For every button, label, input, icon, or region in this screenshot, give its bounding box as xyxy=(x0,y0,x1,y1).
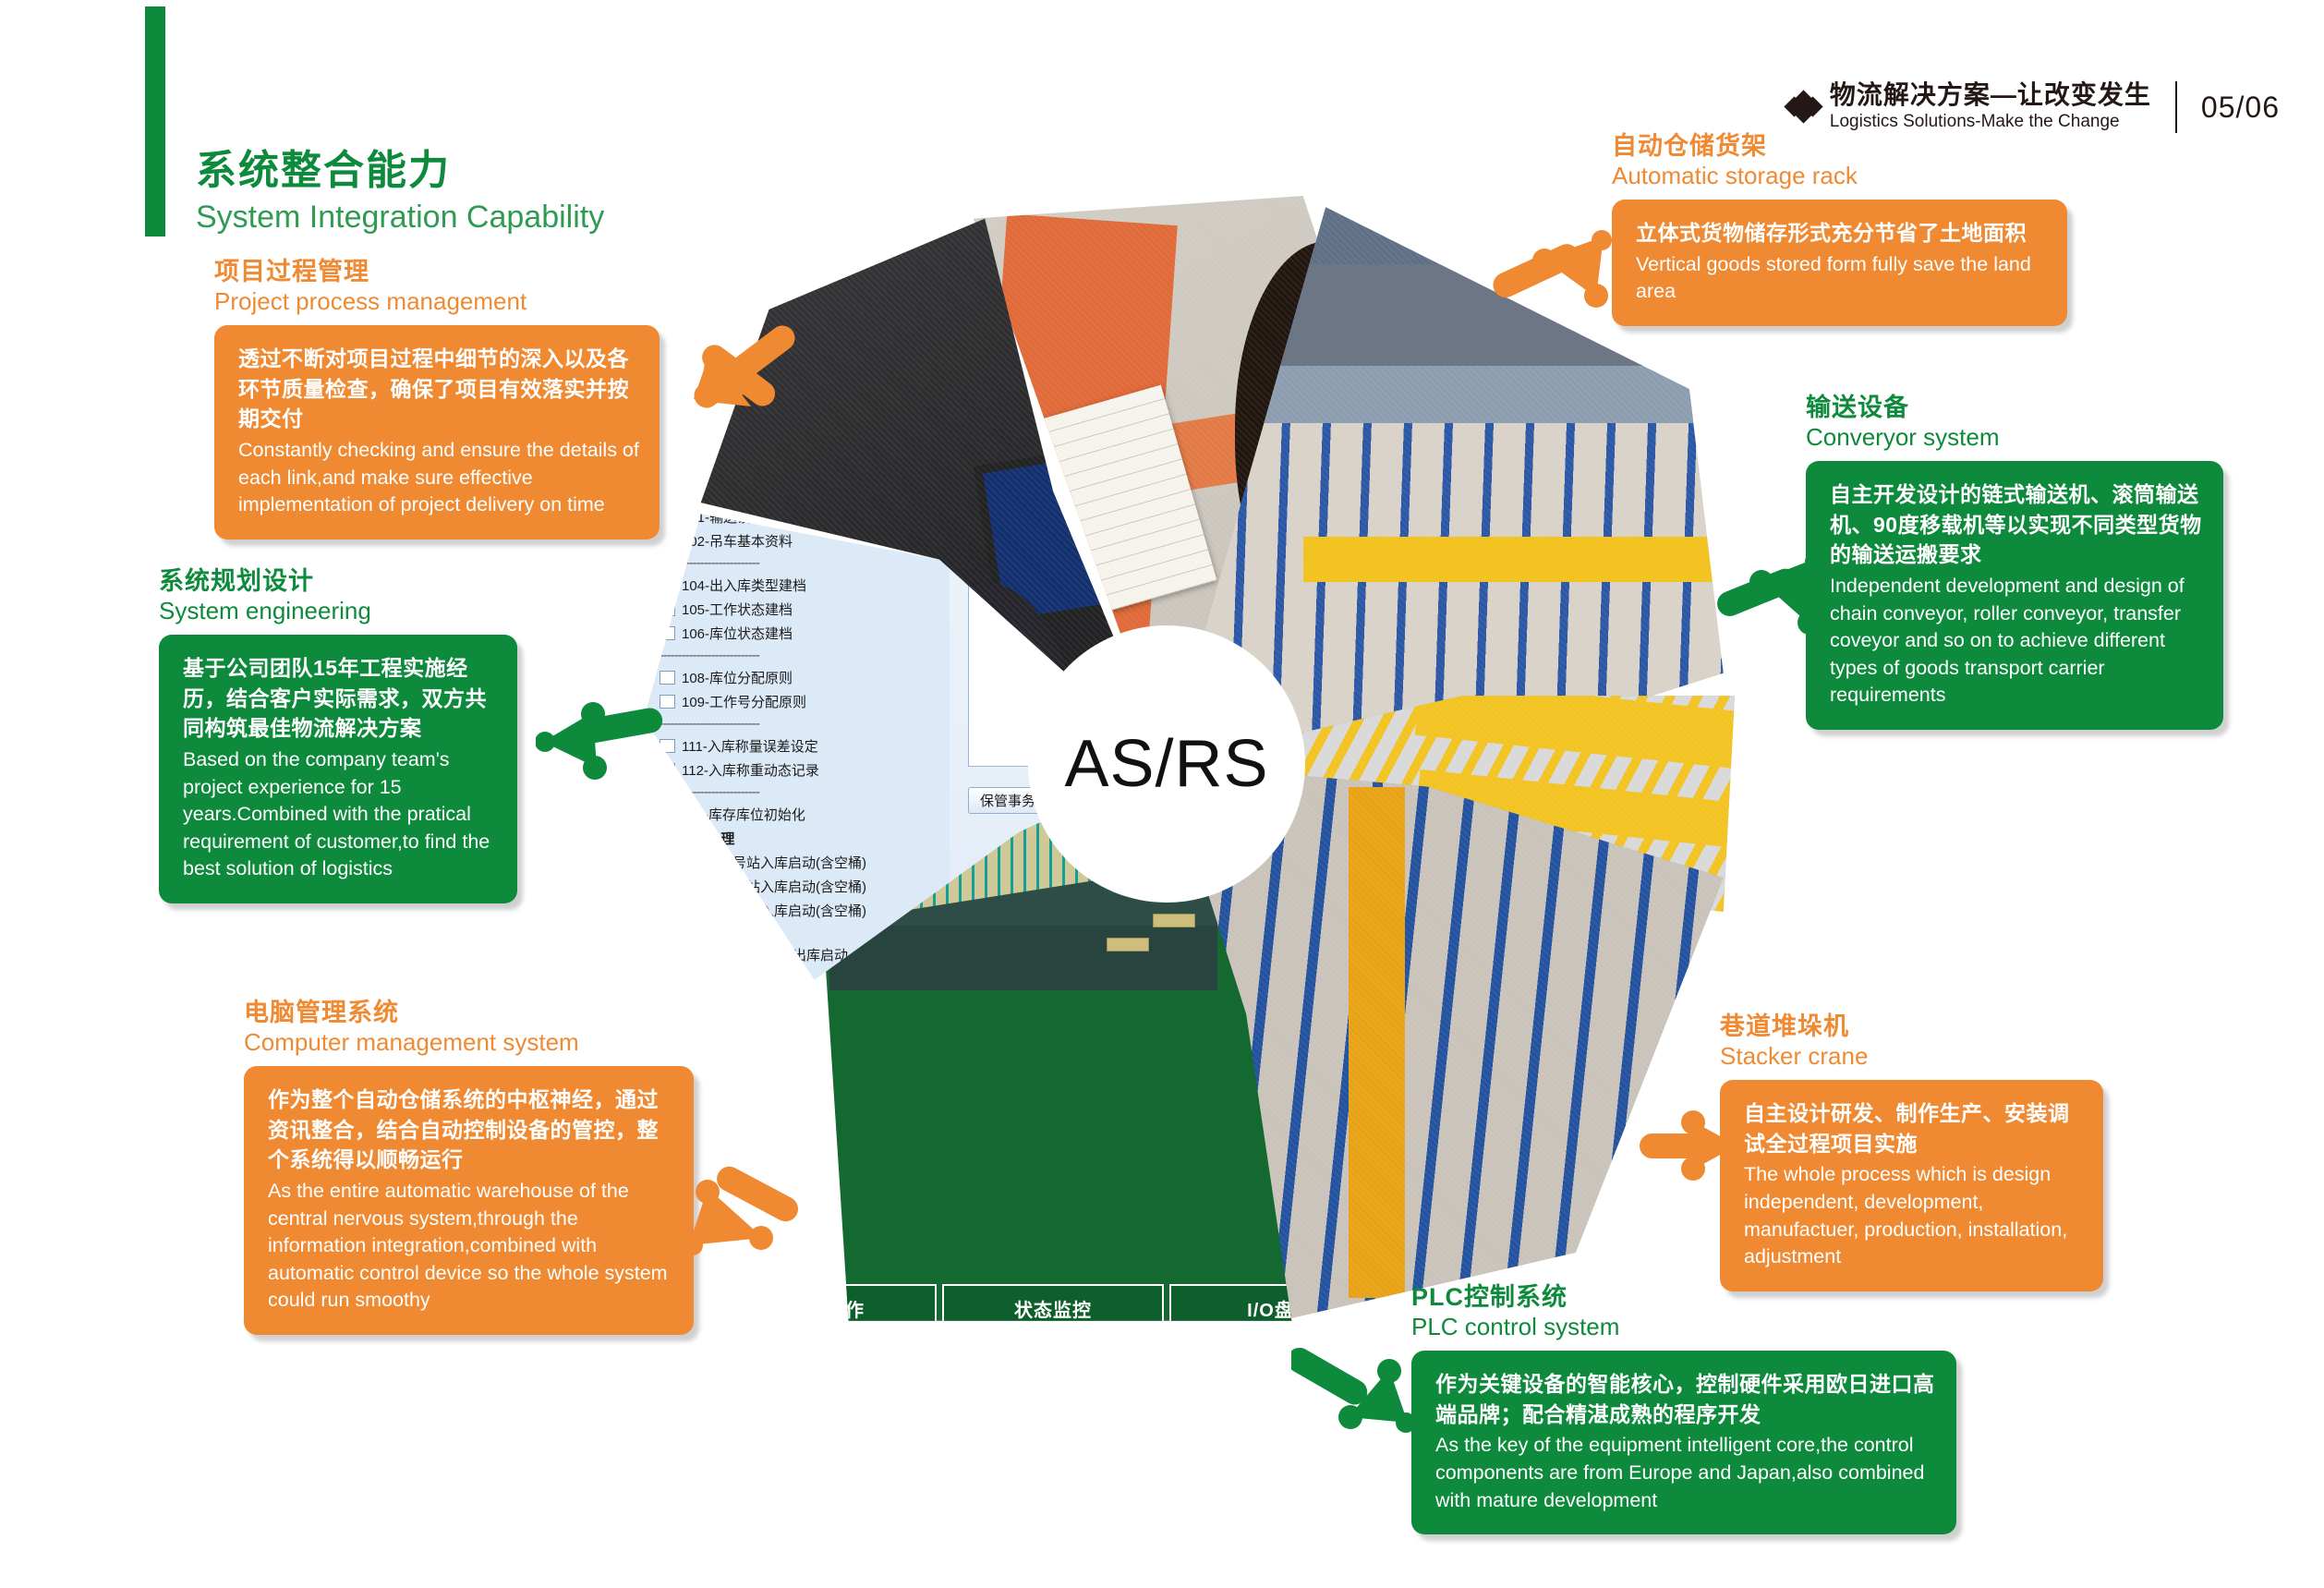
callout-label-cn-5: 巷道堆垛机 xyxy=(1720,1012,2117,1041)
hmi-button-0[interactable]: 设备操作 xyxy=(715,1284,937,1332)
callout-box-1: 基于公司团队15年工程实施经历，结合客户实际需求，双方共同构筑最佳物流解决方案 … xyxy=(159,635,517,903)
software-tree-label: 108-库位分配原则 xyxy=(682,668,793,687)
software-tree-label: 114-库存库位初始化 xyxy=(682,805,805,824)
software-tree-node-15[interactable]: 2-日常处理 xyxy=(641,826,944,850)
folder-icon xyxy=(643,830,660,845)
callout-computer-management-system: 电脑管理系统 Computer management system 作为整个自动… xyxy=(244,998,706,1335)
software-tree-label: 106-库位状态建档 xyxy=(682,624,793,643)
callout-body-cn-0: 透过不断对项目过程中细节的深入以及各环节质量检查，确保了项目有效落实并按期交付 xyxy=(238,344,639,434)
slide-header: 物流解决方案—让改变发生 Logistics Solutions-Make th… xyxy=(1787,81,2280,133)
arrow-up-left-icon xyxy=(679,321,799,428)
software-tree-label: 105-工作状态建档 xyxy=(682,600,793,619)
header-title-cn: 物流解决方案—让改变发生 xyxy=(1830,81,2151,110)
software-tree-node-11[interactable]: 111-入库称量误差设定 xyxy=(641,733,944,758)
software-tree-label: 201-105号站入库启动(含空桶) xyxy=(682,853,866,872)
software-tree-node-6[interactable]: 106-库位状态建档 xyxy=(641,621,944,645)
callout-body-cn-3: 立体式货物储存形式充分节省了土地面积 xyxy=(1636,218,2047,249)
software-tree-label: 2-日常处理 xyxy=(667,829,734,848)
diamond-icon xyxy=(1787,93,1815,121)
document-icon xyxy=(660,578,675,592)
software-tree-label: --------------------------- xyxy=(660,555,759,571)
software-tree-node-9[interactable]: 109-工作号分配原则 xyxy=(641,689,944,713)
software-tree-node-3[interactable]: --------------------------- xyxy=(641,552,944,573)
callout-label-en-3: Automatic storage rack xyxy=(1612,161,2083,191)
header-text-group: 物流解决方案—让改变发生 Logistics Solutions-Make th… xyxy=(1830,81,2151,133)
callout-label-en-1: System engineering xyxy=(159,596,530,626)
callout-label-cn-3: 自动仓储货架 xyxy=(1612,131,2083,161)
software-tree-node-16[interactable]: 201-105号站入库启动(含空桶) xyxy=(641,850,944,874)
software-tree-node-10[interactable]: --------------------------- xyxy=(641,713,944,733)
callout-box-6: 作为关键设备的智能核心，控制硬件采用欧日进口高端品牌；配合精湛成熟的程序开发 A… xyxy=(1411,1351,1956,1534)
software-tree-label: --------------------------- xyxy=(660,784,759,800)
arrow-down-right-icon xyxy=(1291,1330,1421,1441)
header-divider xyxy=(2175,81,2177,133)
callout-label-cn-6: PLC控制系统 xyxy=(1411,1282,1966,1312)
callout-plc-control-system: PLC控制系统 PLC control system 作为关键设备的智能核心，控… xyxy=(1411,1282,1966,1534)
software-tree-node-17[interactable]: 202-103号站入库启动(含空桶) xyxy=(641,874,944,898)
callout-label-cn-0: 项目过程管理 xyxy=(214,257,676,286)
callout-body-cn-2: 作为整个自动仓储系统的中枢神经，通过资讯整合，结合自动控制设备的管控，整个系统得… xyxy=(268,1085,673,1175)
document-icon xyxy=(660,626,675,640)
callout-label-cn-1: 系统规划设计 xyxy=(159,566,530,596)
callout-body-cn-5: 自主设计研发、制作生产、安装调试全过程项目实施 xyxy=(1744,1098,2083,1158)
callout-conveyor-system: 输送设备 Converyor system 自主开发设计的链式输送机、滚筒输送机… xyxy=(1806,393,2235,730)
callout-automatic-storage-rack: 自动仓储货架 Automatic storage rack 立体式货物储存形式充… xyxy=(1612,131,2083,326)
software-tree-label: --------------------------- xyxy=(660,925,759,940)
software-tree-label: 111-入库称量误差设定 xyxy=(682,736,818,756)
callout-body-en-0: Constantly checking and ensure the detai… xyxy=(238,437,639,519)
software-tree-node-5[interactable]: 105-工作状态建档 xyxy=(641,597,944,621)
callout-body-cn-1: 基于公司团队15年工程实施经历，结合客户实际需求，双方共同构筑最佳物流解决方案 xyxy=(183,653,497,744)
callout-box-5: 自主设计研发、制作生产、安装调试全过程项目实施 The whole proces… xyxy=(1720,1080,2103,1291)
arrow-down-left-icon xyxy=(684,1153,813,1264)
callout-body-en-5: The whole process which is design indepe… xyxy=(1744,1161,2083,1271)
callout-label-en-4: Converyor system xyxy=(1806,422,2235,453)
document-icon xyxy=(660,948,675,962)
callout-box-2: 作为整个自动仓储系统的中枢神经，通过资讯整合，结合自动控制设备的管控，整个系统得… xyxy=(244,1066,694,1335)
software-tree-node-4[interactable]: 104-出入库类型建档 xyxy=(641,573,944,597)
document-icon xyxy=(660,807,675,821)
callout-project-process-management: 项目过程管理 Project process management 透过不断对项… xyxy=(214,257,676,539)
slide-canvas: 系统整合能力 System Integration Capability 物流解… xyxy=(0,0,2324,1588)
page-number: 05/06 xyxy=(2201,91,2280,125)
hub-label: AS/RS xyxy=(1064,726,1268,802)
arrow-left-icon xyxy=(536,688,665,781)
callout-body-en-6: As the key of the equipment intelligent … xyxy=(1435,1432,1936,1514)
arrow-right-icon xyxy=(1640,1104,1750,1187)
software-tree-label: --------------------------- xyxy=(660,969,759,985)
software-tree-label: --------------------------- xyxy=(660,716,759,732)
callout-system-engineering: 系统规划设计 System engineering 基于公司团队15年工程实施经… xyxy=(159,566,530,903)
document-icon xyxy=(660,671,675,685)
hmi-button-1[interactable]: 状态监控 xyxy=(942,1284,1164,1332)
callout-label-en-2: Computer management system xyxy=(244,1027,706,1058)
software-tree-label: 109-工作号分配原则 xyxy=(682,692,806,711)
callout-label-en-5: Stacker crane xyxy=(1720,1041,2117,1072)
callout-label-en-0: Project process management xyxy=(214,286,676,317)
callout-box-4: 自主开发设计的链式输送机、滚筒输送机、90度移载机等以实现不同类型货物的输送运搬… xyxy=(1806,461,2223,730)
document-icon xyxy=(660,879,675,893)
callout-body-cn-4: 自主开发设计的链式输送机、滚筒输送机、90度移载机等以实现不同类型货物的输送运搬… xyxy=(1830,479,2203,570)
callout-stacker-crane: 巷道堆垛机 Stacker crane 自主设计研发、制作生产、安装调试全过程项… xyxy=(1720,1012,2117,1291)
software-tree-node-12[interactable]: 112-入库称重动态记录 xyxy=(641,758,944,782)
arrow-right-up-icon xyxy=(1713,545,1834,647)
callout-body-en-3: Vertical goods stored form fully save th… xyxy=(1636,251,2047,306)
title-accent-bar xyxy=(145,6,165,236)
software-tree-label: 202-103号站入库启动(含空桶) xyxy=(682,877,866,896)
software-tree-label: 203-419号站入库启动(含空桶) xyxy=(682,901,866,920)
arrow-up-right-icon xyxy=(1485,222,1624,333)
page-title-cn: 系统整合能力 xyxy=(196,148,842,195)
callout-label-en-6: PLC control system xyxy=(1411,1312,1966,1342)
document-icon xyxy=(660,903,675,917)
callout-box-3: 立体式货物储存形式充分节省了土地面积 Vertical goods stored… xyxy=(1612,200,2067,326)
header-title-en: Logistics Solutions-Make the Change xyxy=(1830,112,2151,133)
software-tree-node-7[interactable]: --------------------------- xyxy=(641,645,944,665)
wheel-hub: AS/RS xyxy=(1028,625,1305,903)
software-tree-node-8[interactable]: 108-库位分配原则 xyxy=(641,665,944,689)
callout-label-cn-4: 输送设备 xyxy=(1806,393,2235,422)
document-icon xyxy=(660,855,675,869)
callout-body-en-1: Based on the company team's project expe… xyxy=(183,746,497,883)
software-tree-label: 104-出入库类型建档 xyxy=(682,576,806,595)
document-icon xyxy=(660,602,675,616)
software-tree-node-18[interactable]: 203-419号站入库启动(含空桶) xyxy=(641,898,944,922)
callout-label-cn-2: 电脑管理系统 xyxy=(244,998,706,1027)
callout-box-0: 透过不断对项目过程中细节的深入以及各环节质量检查，确保了项目有效落实并按期交付 … xyxy=(214,325,660,539)
software-tree-label: 301-工作档资料查询及维护 xyxy=(682,1037,848,1057)
callout-body-cn-6: 作为关键设备的智能核心，控制硬件采用欧日进口高端品牌；配合精湛成熟的程序开发 xyxy=(1435,1369,1936,1429)
software-tree-label: 102-吊车基本资料 xyxy=(682,531,793,551)
software-tree-node-14[interactable]: 114-库存库位初始化 xyxy=(641,802,944,826)
software-tree-label: 112-入库称重动态记录 xyxy=(682,760,819,780)
software-tree-label: 205-在库库位盘点出库启动 xyxy=(682,945,848,964)
callout-body-en-2: As the entire automatic warehouse of the… xyxy=(268,1178,673,1315)
software-tree-node-13[interactable]: --------------------------- xyxy=(641,782,944,802)
callout-body-en-4: Independent development and design of ch… xyxy=(1830,573,2203,709)
software-tree-label: --------------------------- xyxy=(660,648,759,663)
